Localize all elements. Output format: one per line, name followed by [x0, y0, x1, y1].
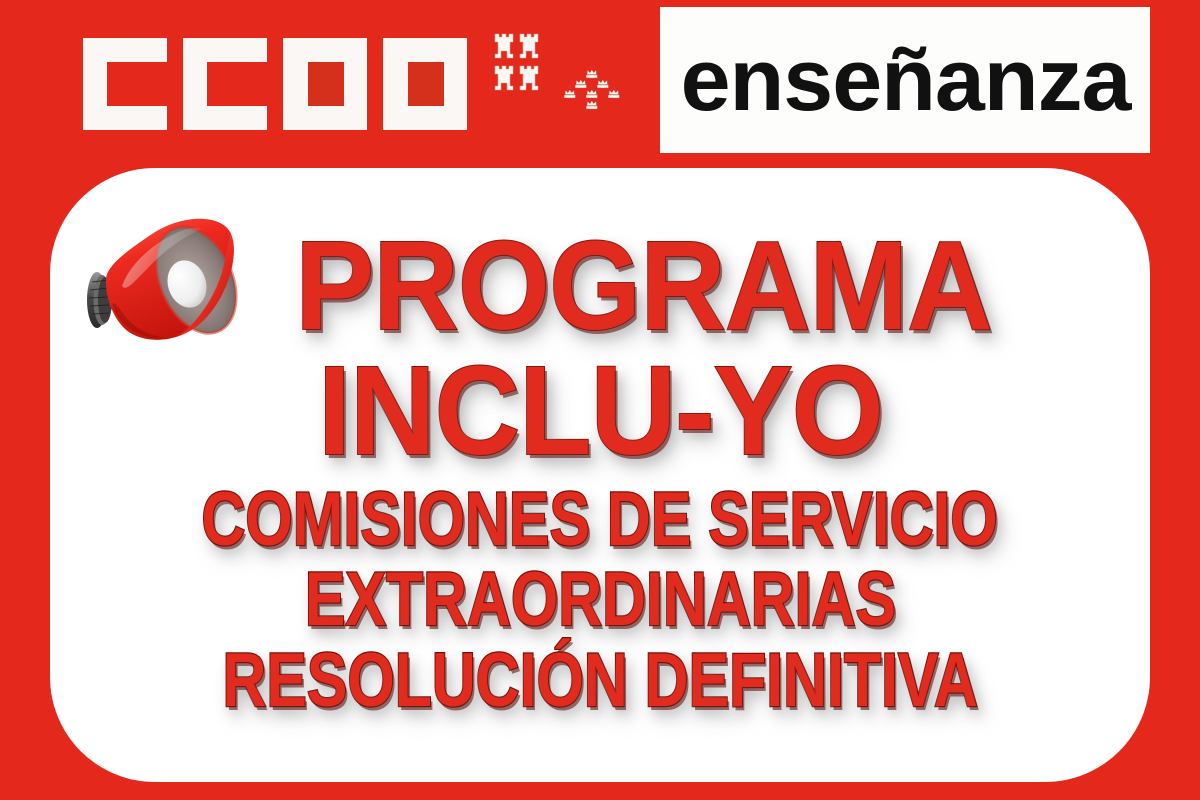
ccoo-logo-glyph-o1	[283, 38, 367, 130]
ccoo-logo	[83, 38, 463, 130]
ccoo-logo-glyph-o2	[383, 38, 467, 130]
subheadline-line-resolucion: RESOLUCIÓN DEFINITIVA	[222, 644, 978, 718]
subheadline-line-comisiones: COMISIONES DE SERVICIO	[202, 483, 998, 557]
header-band: enseñanza	[0, 0, 1200, 165]
subheadline-line-extraordinarias: EXTRAORDINARIAS	[304, 563, 895, 637]
federation-name-plate: enseñanza	[660, 7, 1150, 153]
murcia-coat-of-arms-icon	[493, 26, 638, 136]
headline-line-incluyo: INCLU-YO	[318, 349, 883, 472]
federation-name-label: enseñanza	[680, 36, 1130, 124]
poster-canvas: enseñanza	[0, 0, 1200, 800]
headline-stack: PROGRAMA INCLU-YO COMISIONES DE SERVICIO…	[50, 168, 1150, 782]
ccoo-logo-glyph-c1	[83, 38, 167, 130]
ccoo-logo-glyph-c2	[183, 38, 267, 130]
headline-line-programa: PROGRAMA	[295, 224, 992, 347]
